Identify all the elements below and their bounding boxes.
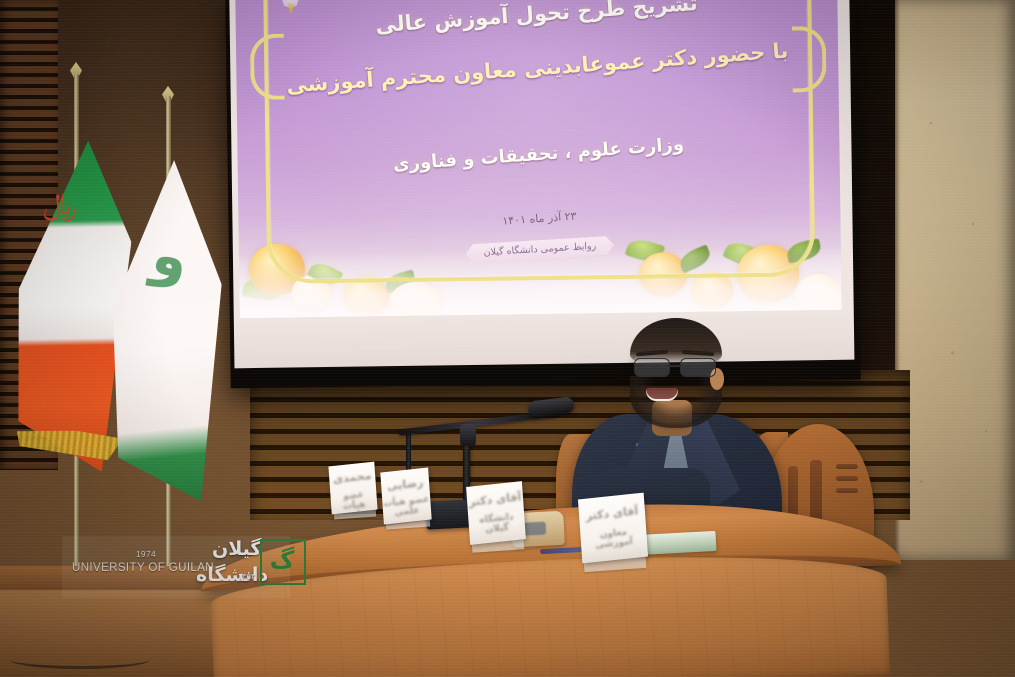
chair-back-slot	[836, 488, 858, 493]
university-watermark: 1974 UNIVERSITY OF GUILAN گیلان دانشگاه …	[62, 536, 290, 598]
name-card: محمدی عضو هیأت علمی	[328, 462, 377, 515]
name-card-line1: آقای دکتر	[467, 490, 524, 509]
slide-public-relations-ribbon: روابط عمومی دانشگاه گیلان	[465, 236, 615, 264]
slide-text-block: تشریح طرح تحول آموزش عالی با حضور دکتر ع…	[235, 0, 842, 318]
slide-guest-line: با حضور دکتر عموعابدینی معاون محترم آموز…	[236, 35, 838, 101]
university-logo-icon: گ	[260, 539, 306, 585]
slide-date-line: ۲۳ آذر ماه ۱۴۰۱	[239, 191, 840, 246]
chair-back-slot	[836, 476, 858, 481]
watermark-university-name-en: UNIVERSITY OF GUILAN	[68, 562, 214, 574]
slide-title-line: تشریح طرح تحول آموزش عالی	[235, 0, 837, 47]
right-plaster-column	[895, 0, 1015, 560]
name-card-line2: معاون آموزشی	[580, 525, 647, 552]
name-card-line2: دانشگاه گیلان	[468, 511, 525, 537]
speaker-mouth	[646, 388, 678, 401]
eyeglass-lens-right	[680, 358, 716, 377]
watermark-university-name-fa-line2: دانشگاه	[196, 564, 268, 586]
eyeglasses-icon	[632, 358, 720, 376]
presentation-slide: تشریح طرح تحول آموزش عالی با حضور دکتر ع…	[235, 0, 842, 318]
name-card-line1: محمدی	[329, 469, 376, 487]
name-card: رضایی عضو هیأت علمی	[380, 468, 431, 525]
microphone-clamp	[460, 424, 476, 446]
university-logo-glyph: گ	[267, 545, 297, 577]
eyeglass-bridge	[668, 365, 680, 367]
iran-flag-emblem-icon: ﷼	[39, 189, 81, 226]
projection-screen-surface: تشریح طرح تحول آموزش عالی با حضور دکتر ع…	[229, 0, 854, 368]
name-card-line1: آقای دکتر	[579, 503, 646, 523]
slide-ministry-line: وزارت علوم ، تحقیقات و فناوری	[238, 123, 840, 186]
speaker-eyebrows	[636, 351, 714, 355]
name-card: آقای دکتر دانشگاه گیلان	[466, 481, 526, 545]
watermark-university-name-fa-line1: گیلان	[212, 538, 261, 560]
photo-scene: تشریح طرح تحول آموزش عالی با حضور دکتر ع…	[0, 0, 1015, 677]
eyeglass-lens-left	[634, 358, 670, 377]
name-card: آقای دکتر معاون آموزشی	[578, 493, 648, 564]
floor-cable	[10, 650, 150, 669]
watermark-founding-year-fa: ۱۳۵۳	[238, 572, 255, 581]
name-card-line1: رضایی	[381, 475, 430, 493]
name-card-line2: عضو هیأت علمی	[382, 495, 431, 520]
column-speckle-texture	[895, 0, 1015, 560]
chair-back-slot	[836, 464, 858, 469]
watermark-founding-year-en: 1974	[136, 550, 156, 559]
